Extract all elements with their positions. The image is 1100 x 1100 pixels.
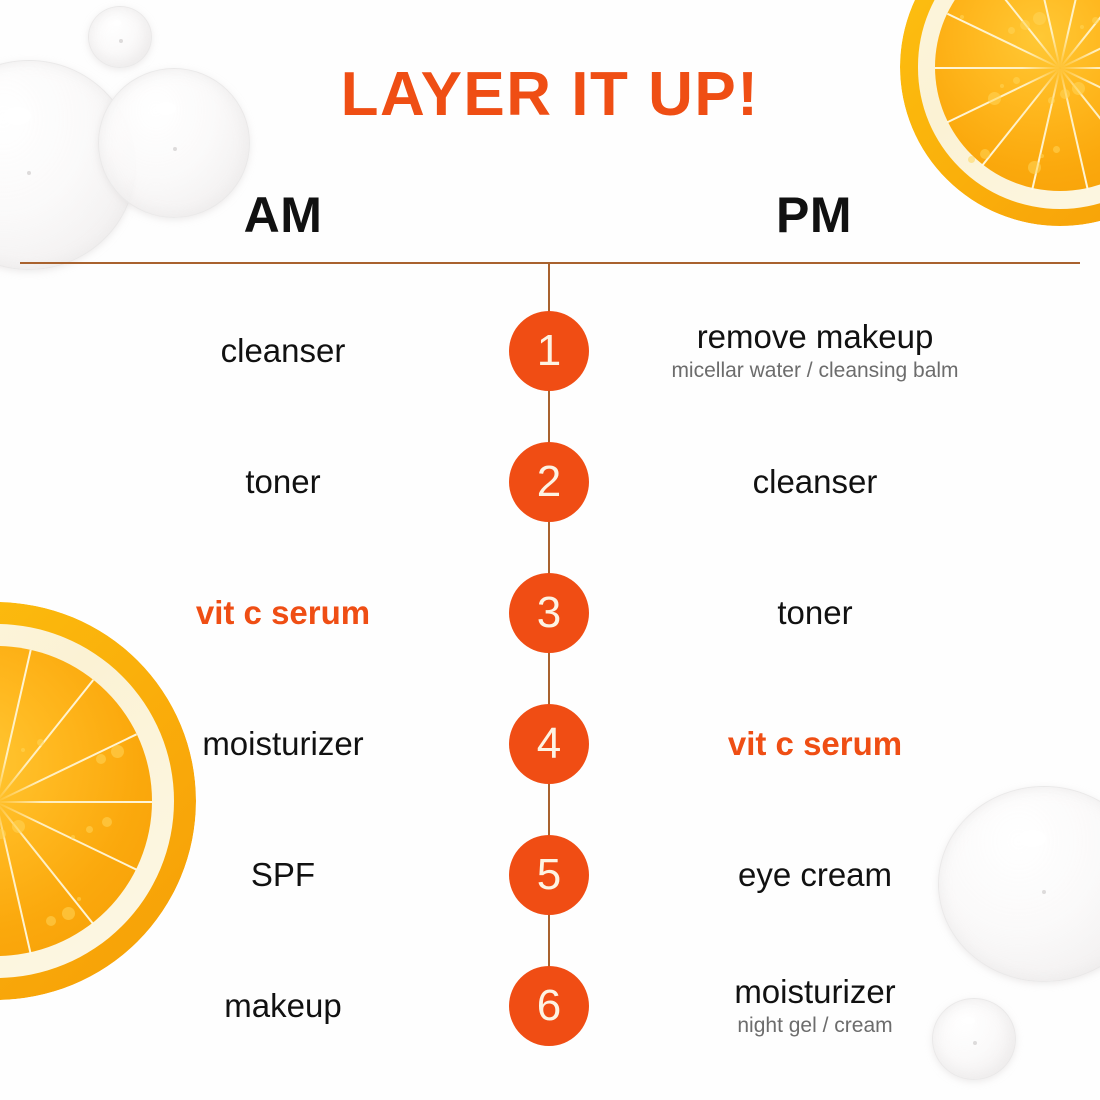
step-label-pm: remove makeup <box>697 319 934 355</box>
routine-cell-am: makeup <box>68 966 498 1046</box>
step-number-badge: 4 <box>509 704 589 784</box>
step-number-badge: 3 <box>509 573 589 653</box>
step-number-badge: 5 <box>509 835 589 915</box>
routine-cell-pm: remove makeupmicellar water / cleansing … <box>600 311 1030 391</box>
routine-step-row: makeupmoisturizernight gel / cream6 <box>0 966 1100 1046</box>
header-divider <box>20 262 1080 264</box>
routine-step-row: tonercleanser2 <box>0 442 1100 522</box>
step-label-pm: toner <box>777 595 852 631</box>
routine-cell-pm: cleanser <box>600 442 1030 522</box>
routine-step-row: SPFeye cream5 <box>0 835 1100 915</box>
step-number-badge: 1 <box>509 311 589 391</box>
column-header-pm: PM <box>684 190 944 240</box>
step-label-pm: vit c serum <box>728 726 902 762</box>
column-header-am: AM <box>153 190 413 240</box>
routine-cell-am: SPF <box>68 835 498 915</box>
page-title: LAYER IT UP! <box>0 64 1100 126</box>
routine-step-row: moisturizervit c serum4 <box>0 704 1100 784</box>
step-label-pm: eye cream <box>738 857 892 893</box>
step-label-am: SPF <box>251 857 315 893</box>
routine-cell-pm: eye cream <box>600 835 1030 915</box>
step-label-am: cleanser <box>221 333 346 369</box>
step-sublabel-pm: micellar water / cleansing balm <box>671 358 958 383</box>
step-label-pm: cleanser <box>753 464 878 500</box>
routine-cell-am: moisturizer <box>68 704 498 784</box>
step-label-pm: moisturizer <box>734 974 895 1010</box>
routine-cell-pm: toner <box>600 573 1030 653</box>
routine-step-row: cleanserremove makeupmicellar water / cl… <box>0 311 1100 391</box>
step-label-am: makeup <box>224 988 341 1024</box>
routine-cell-pm: vit c serum <box>600 704 1030 784</box>
step-label-am: moisturizer <box>202 726 363 762</box>
routine-cell-am: cleanser <box>68 311 498 391</box>
step-number-badge: 6 <box>509 966 589 1046</box>
step-number-badge: 2 <box>509 442 589 522</box>
step-label-am: toner <box>245 464 320 500</box>
step-label-am: vit c serum <box>196 595 370 631</box>
infographic-canvas: LAYER IT UP! AM PM cleanserremove makeup… <box>0 0 1100 1100</box>
infographic-content: LAYER IT UP! AM PM cleanserremove makeup… <box>0 0 1100 1100</box>
routine-cell-am: vit c serum <box>68 573 498 653</box>
routine-cell-pm: moisturizernight gel / cream <box>600 966 1030 1046</box>
step-sublabel-pm: night gel / cream <box>737 1013 892 1038</box>
routine-step-row: vit c serumtoner3 <box>0 573 1100 653</box>
routine-cell-am: toner <box>68 442 498 522</box>
